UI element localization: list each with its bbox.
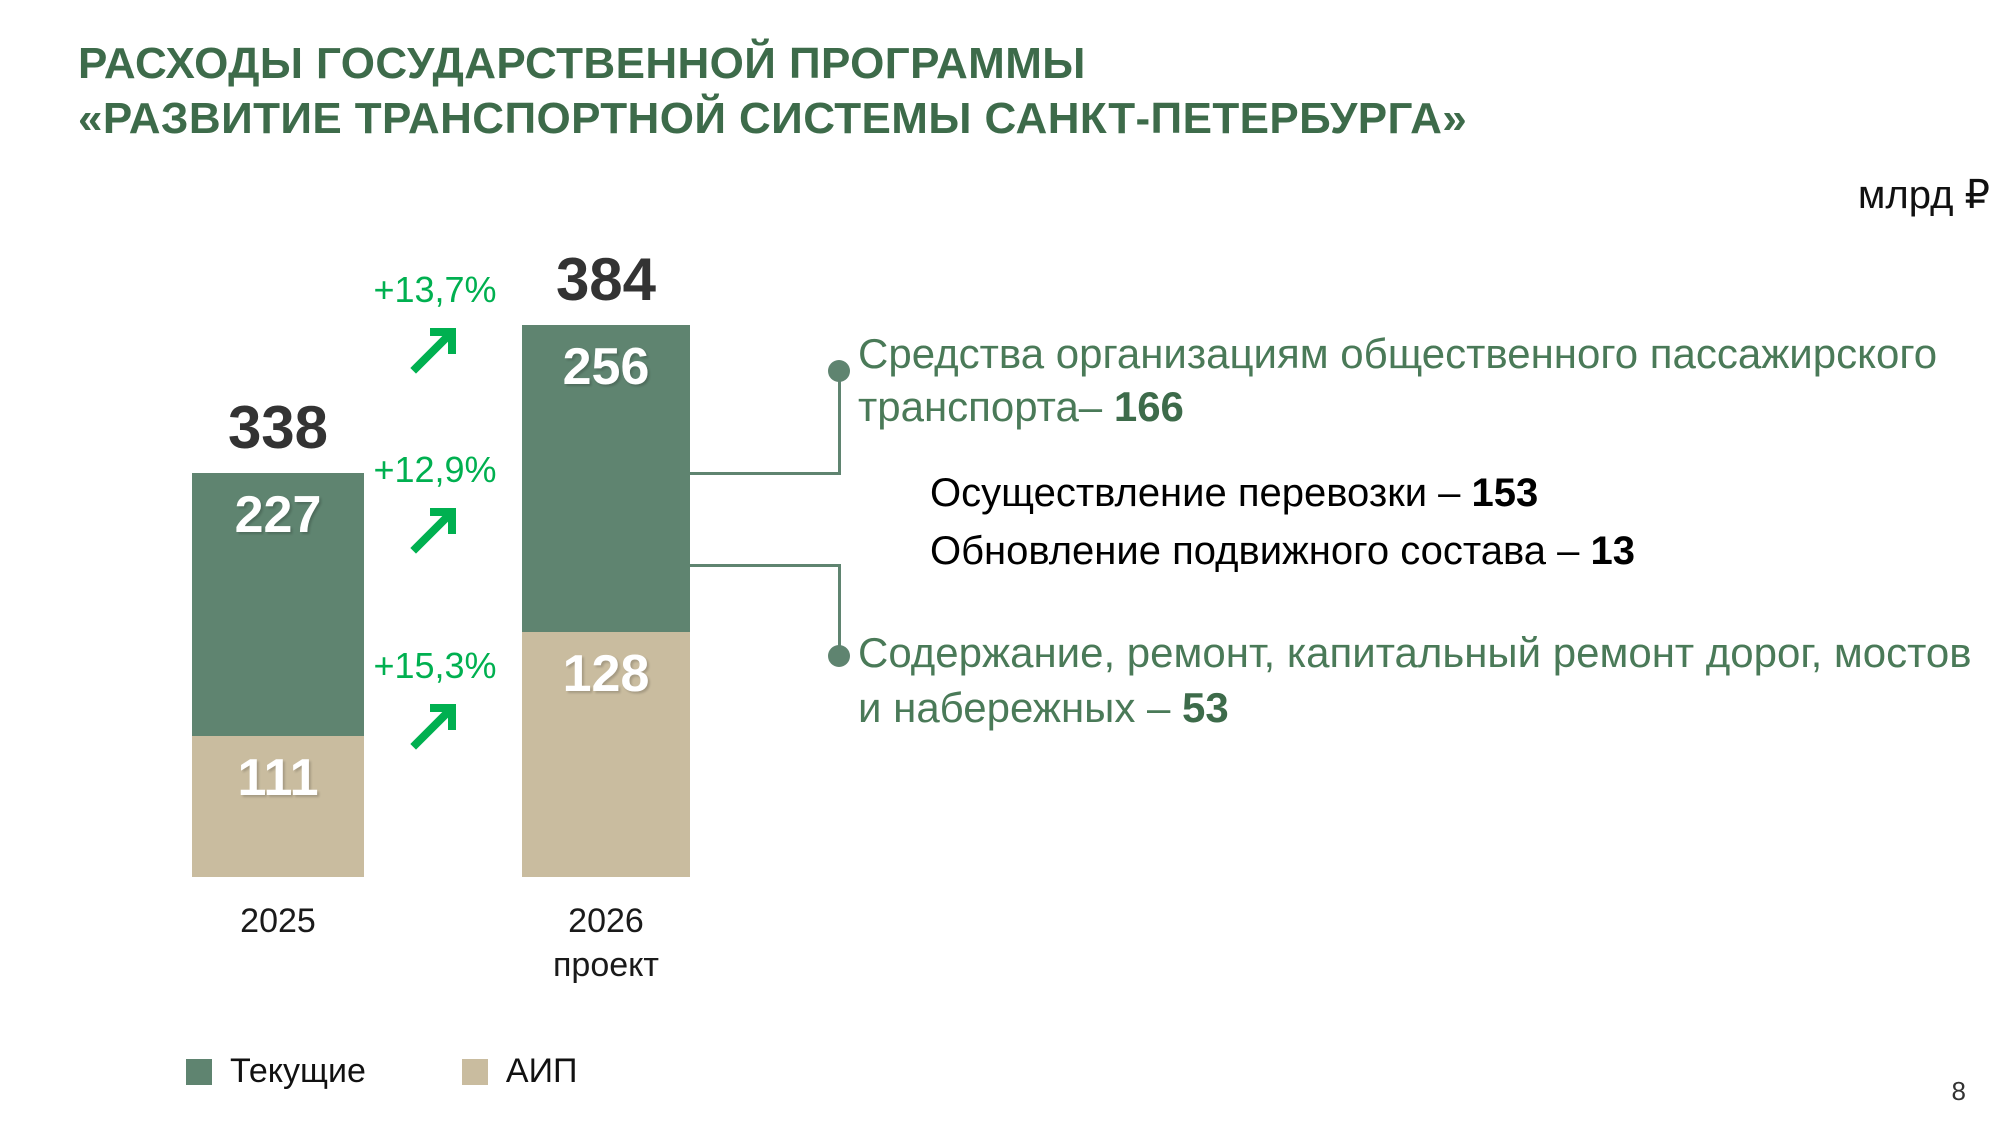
- bar-segment-aip-2026: 128: [522, 632, 690, 877]
- connector-vertical-segment: [838, 380, 841, 475]
- callout-block-first: Средства организациям общественного пасс…: [858, 328, 1978, 580]
- bar-segment-label-current-2025: 227: [235, 489, 322, 736]
- bar-category-2026: 2026 проект: [500, 900, 712, 987]
- callout-second-label: Содержание, ремонт, капитальный ремонт д…: [858, 629, 1972, 731]
- growth-label-total: +13,7%: [340, 272, 530, 308]
- sub-item-label-1: Осуществление перевозки –: [930, 471, 1472, 515]
- list-item: Обновление подвижного состава – 13: [930, 522, 1978, 580]
- legend-swatch-current-icon: [186, 1059, 212, 1085]
- bar-total-2025: 338: [192, 398, 364, 458]
- list-item: Осуществление перевозки – 153: [930, 464, 1978, 522]
- chart-legend: Текущие АИП: [186, 1052, 577, 1091]
- callout-second-value: 53: [1182, 684, 1229, 731]
- stacked-bar-chart: 338 227 111 2025 384 256 128 2026 проект…: [0, 0, 900, 1125]
- legend-label-aip: АИП: [506, 1052, 578, 1091]
- growth-label-aip: +15,3%: [340, 648, 530, 684]
- sub-item-label-2: Обновление подвижного состава –: [930, 529, 1591, 573]
- callout-block-second: Содержание, ремонт, капитальный ремонт д…: [858, 626, 1988, 735]
- bar-2026: 256 128: [522, 325, 690, 877]
- callout-first-text: Средства организациям общественного пасс…: [858, 328, 1978, 434]
- bar-segment-current-2026: 256: [522, 325, 690, 632]
- callout-first-label: Средства организациям общественного пасс…: [858, 330, 1937, 430]
- arrow-up-right-icon: [406, 500, 464, 558]
- bar-category-2025: 2025: [172, 900, 384, 944]
- bar-segment-aip-2025: 111: [192, 736, 364, 877]
- legend-item-current: Текущие: [186, 1052, 366, 1091]
- bar-segment-label-aip-2026: 128: [563, 648, 650, 877]
- growth-annotation-current: +12,9%: [340, 452, 530, 558]
- bar-segment-current-2025: 227: [192, 473, 364, 736]
- sub-item-value-2: 13: [1591, 529, 1636, 573]
- connector-dot-icon: [828, 645, 850, 667]
- callout-first-value: 166: [1114, 383, 1184, 430]
- arrow-up-right-icon: [406, 320, 464, 378]
- legend-swatch-aip-icon: [462, 1059, 488, 1085]
- callout-first-sub-list: Осуществление перевозки – 153 Обновление…: [930, 464, 1978, 580]
- connector-horizontal-segment: [690, 472, 841, 475]
- bar-2025: 227 111: [192, 473, 364, 877]
- growth-annotation-total: +13,7%: [340, 272, 530, 378]
- growth-label-current: +12,9%: [340, 452, 530, 488]
- connector-vertical-segment: [838, 564, 841, 656]
- growth-annotation-aip: +15,3%: [340, 648, 530, 754]
- sub-item-value-1: 153: [1472, 471, 1539, 515]
- arrow-up-right-icon: [406, 696, 464, 754]
- legend-item-aip: АИП: [462, 1052, 578, 1091]
- bar-segment-label-aip-2025: 111: [237, 752, 318, 877]
- page-number: 8: [1952, 1076, 1966, 1107]
- bar-total-2026: 384: [522, 250, 690, 310]
- legend-label-current: Текущие: [230, 1052, 366, 1091]
- units-label: млрд ₽: [1858, 172, 1990, 218]
- connector-horizontal-segment: [690, 564, 841, 567]
- bar-segment-label-current-2026: 256: [563, 341, 650, 632]
- connector-dot-icon: [828, 360, 850, 382]
